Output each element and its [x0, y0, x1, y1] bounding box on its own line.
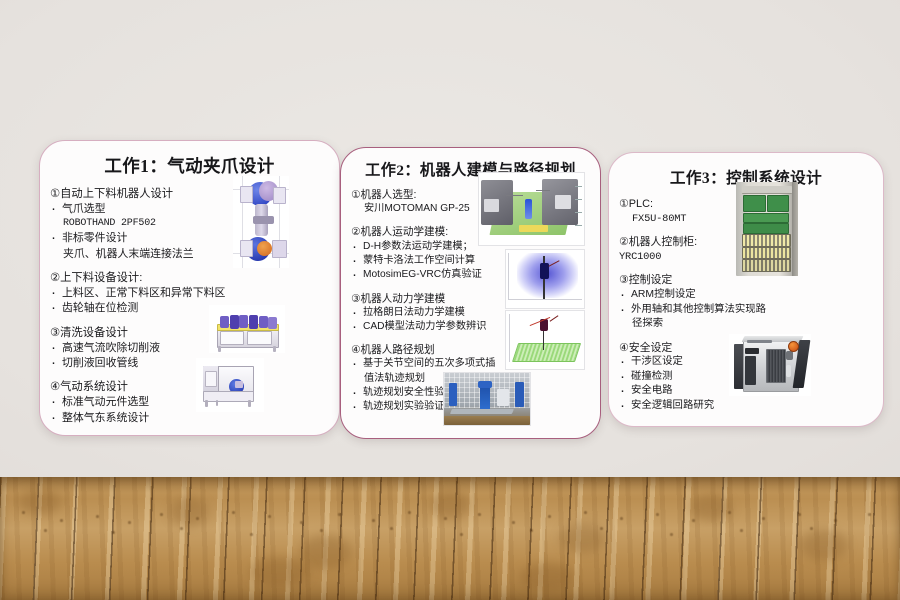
group-item: ARM控制设定: [619, 288, 875, 303]
floor-nail-hole: [584, 511, 587, 514]
group-item: 切削液回收管线: [50, 356, 331, 371]
floor-nail-hole: [798, 513, 801, 516]
group-item: 上料区、正常下料区和异常下料区: [50, 286, 331, 301]
task-group: ③清洗设备设计 高速气流吹除切削液 切削液回收管线: [50, 326, 331, 372]
cell-layout-figure: [478, 172, 585, 246]
wooden-floor-background: [0, 477, 900, 600]
task-card-1-title: 工作1：气动夹爪设计: [40, 153, 339, 178]
floor-nail-hole: [160, 513, 163, 516]
floor-nail-hole: [740, 529, 743, 532]
group-heading: ②上下料设备设计:: [50, 271, 331, 286]
floor-nail-hole: [112, 531, 115, 534]
washing-station-figure: [209, 305, 285, 353]
group-item: 标准气动元件选型: [50, 395, 331, 410]
floor-nail-hole: [656, 513, 659, 516]
floor-nail-hole: [670, 533, 673, 536]
floor-grain-smudge: [18, 489, 62, 515]
floor-nail-hole: [548, 515, 551, 518]
floor-nail-hole: [810, 527, 813, 530]
slide-canvas: 工作1：气动夹爪设计 ①自动上下料机器人设计 气爪选型 ROBOTHAND 2P…: [0, 0, 900, 600]
floor-grain-smudge: [430, 491, 470, 519]
pneumatic-cabinet-figure: [196, 358, 264, 412]
group-item: 高速气流吹除切削液: [50, 341, 331, 356]
control-cabinet-photo: [736, 182, 798, 276]
group-item: 安全逻辑回路研究: [619, 399, 875, 414]
floor-nail-hole: [512, 521, 515, 524]
floor-nail-hole: [250, 533, 253, 536]
floor-grain-smudge: [520, 563, 574, 591]
floor-nail-hole: [530, 529, 533, 532]
task-group: ④气动系统设计 标准气动元件选型 整体气东系统设计: [50, 380, 331, 426]
floor-nail-hole: [478, 513, 481, 516]
floor-nail-hole: [320, 529, 323, 532]
floor-nail-hole: [232, 511, 235, 514]
dynamics-plot-figure: [505, 310, 585, 370]
floor-nail-hole: [692, 519, 695, 522]
floor-grain-smudge: [800, 529, 848, 561]
floor-nail-hole: [762, 517, 765, 520]
task-card-1-body: ①自动上下料机器人设计 气爪选型 ROBOTHAND 2PF502 非标零件设计…: [40, 187, 339, 426]
task-group: ②上下料设备设计: 上料区、正常下料区和异常下料区 齿轮轴在位检测: [50, 271, 331, 317]
floor-nail-hole: [268, 515, 271, 518]
floor-nail-hole: [460, 533, 463, 536]
group-item: 整体气东系统设计: [50, 411, 331, 426]
floor-nail-hole: [620, 517, 623, 520]
floor-nail-hole: [834, 519, 837, 522]
group-item: 齿轮轴在位检测: [50, 301, 331, 316]
floor-grain-smudge: [170, 497, 208, 527]
floor-nail-hole: [408, 511, 411, 514]
group-heading: ④气动系统设计: [50, 380, 331, 395]
floor-nail-hole: [868, 513, 871, 516]
floor-nail-hole: [390, 527, 393, 530]
floor-grain-smudge: [300, 535, 352, 569]
floor-nail-hole: [128, 521, 131, 524]
workspace-cloud-figure: [505, 249, 585, 309]
group-item: 径探索: [619, 317, 875, 332]
floor-nail-hole: [300, 521, 303, 524]
floor-grain-smudge: [560, 523, 606, 553]
group-item: 外用轴和其他控制算法实现路: [619, 303, 875, 318]
floor-nail-hole: [44, 529, 47, 532]
gripper-cad-figure: [233, 176, 289, 268]
floor-nail-hole: [372, 519, 375, 522]
floor-nail-hole: [180, 527, 183, 530]
floor-grain-smudge: [250, 557, 310, 587]
robot-cell-photo: [443, 372, 531, 426]
group-heading: ③清洗设备设计: [50, 326, 331, 341]
floor-nail-hole: [96, 515, 99, 518]
task-card-1[interactable]: 工作1：气动夹爪设计 ①自动上下料机器人设计 气爪选型 ROBOTHAND 2P…: [39, 140, 340, 436]
yrc1000-controller-photo: [729, 334, 811, 396]
floor-grain-smudge: [690, 495, 732, 521]
floor-nail-hole: [338, 513, 341, 516]
task-group: ③控制设定 ARM控制设定 外用轴和其他控制算法实现路 径探索: [619, 273, 875, 331]
floor-nail-hole: [60, 519, 63, 522]
